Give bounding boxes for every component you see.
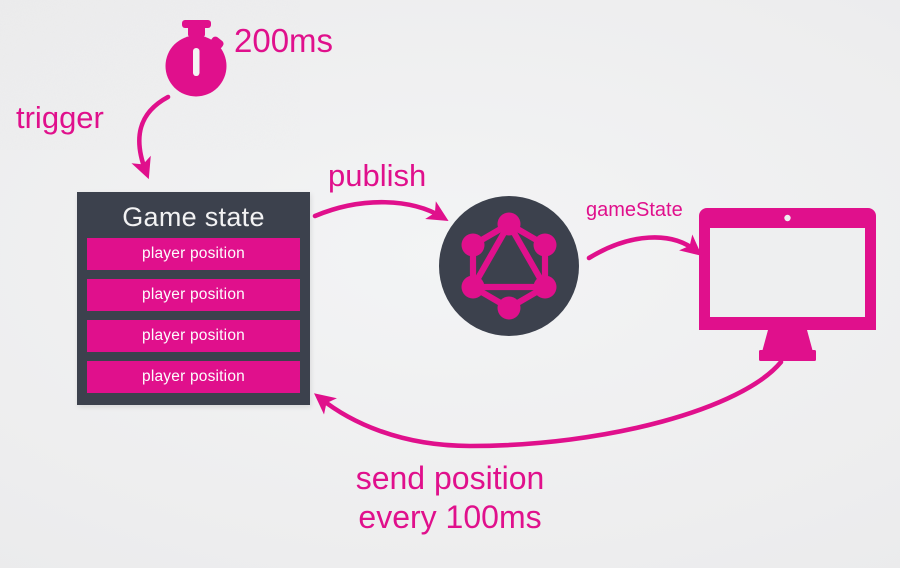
- desktop-monitor-icon: [699, 208, 876, 361]
- diagram-canvas: Game state player position player positi…: [0, 0, 900, 568]
- player-position-row: player position: [87, 279, 300, 311]
- gamestate-payload-label: gameState: [586, 200, 683, 222]
- player-position-row: player position: [87, 238, 300, 270]
- arrow-send-position: [320, 362, 781, 446]
- arrow-gamestate: [589, 237, 696, 258]
- arrow-trigger: [139, 97, 168, 172]
- stopwatch-icon: [166, 20, 227, 97]
- game-state-title: Game state: [87, 198, 300, 238]
- publish-label: publish: [328, 159, 426, 192]
- game-state-panel: Game state player position player positi…: [77, 192, 310, 405]
- player-position-row: player position: [87, 320, 300, 352]
- trigger-label: trigger: [16, 101, 104, 134]
- arrow-publish: [315, 202, 442, 217]
- send-position-line-1: send position: [356, 460, 545, 496]
- send-position-line-2: every 100ms: [0, 500, 900, 535]
- graphql-logo-icon: [439, 196, 579, 336]
- timer-duration-label: 200ms: [234, 23, 333, 59]
- player-position-row: player position: [87, 361, 300, 393]
- send-position-label: send position every 100ms: [0, 461, 900, 534]
